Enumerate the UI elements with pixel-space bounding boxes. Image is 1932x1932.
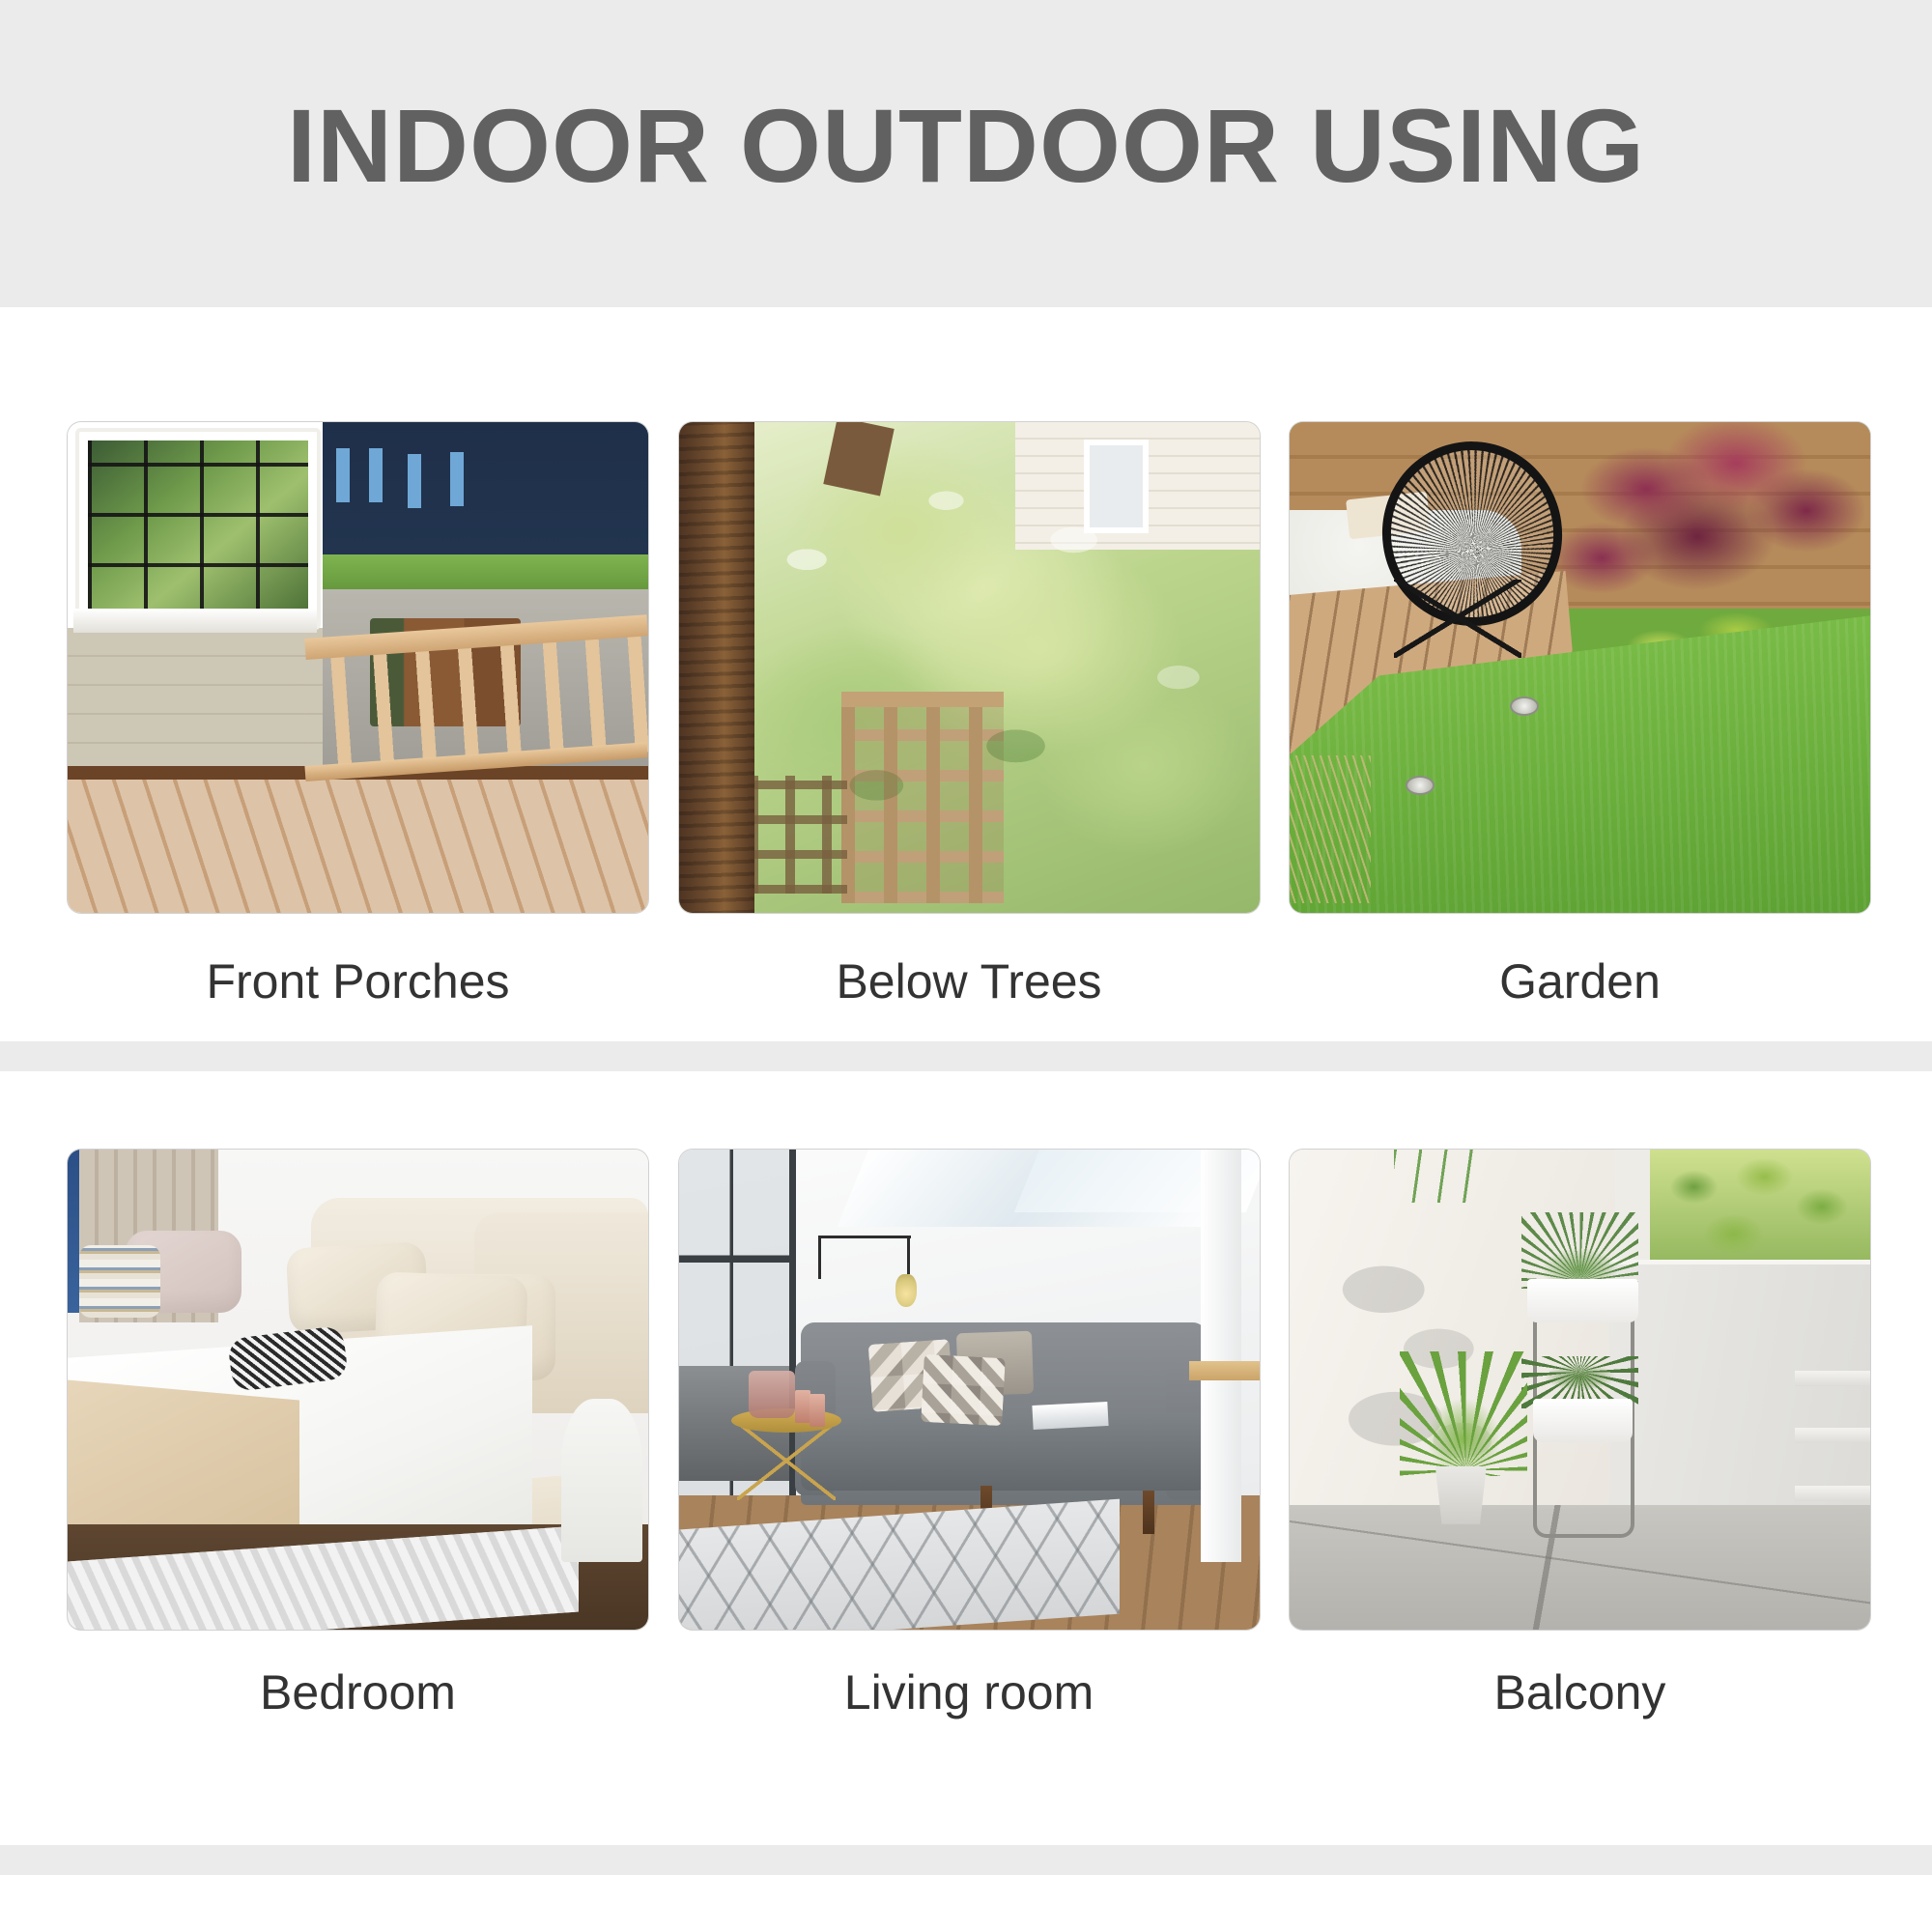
divider-band-middle [0, 1041, 1932, 1071]
caption-front-porches: Front Porches [206, 957, 509, 1006]
deck-light-lower [1406, 776, 1435, 795]
hanging-vine [1394, 1150, 1487, 1203]
wall-step-upper [1795, 1371, 1870, 1386]
porch-deck-floor [68, 766, 648, 913]
magazine-on-sofa [1033, 1402, 1109, 1430]
caption-living-room: Living room [844, 1668, 1094, 1717]
wooden-shelf [1189, 1361, 1259, 1380]
gallery-row-indoor: Bedroom [68, 1150, 1870, 1717]
gallery-cell-below-trees[interactable]: Below Trees [679, 422, 1260, 1006]
planter-pot-upper [1527, 1279, 1637, 1322]
photo-garden[interactable] [1290, 422, 1870, 913]
nightstand-table [561, 1399, 642, 1562]
caption-balcony: Balcony [1494, 1668, 1666, 1717]
photo-bedroom[interactable] [68, 1150, 648, 1630]
neighbour-blue-house [323, 422, 648, 569]
floor-plant [1400, 1351, 1527, 1476]
drinking-glass-b [810, 1394, 825, 1427]
gallery-cell-bedroom[interactable]: Bedroom [68, 1150, 648, 1717]
caption-garden: Garden [1499, 957, 1661, 1006]
drinking-glass-a [795, 1390, 810, 1423]
cushion-geometric-b [921, 1354, 1006, 1426]
gallery-row-outdoor: Front Porches Below Trees Garden [68, 422, 1870, 1006]
edison-bulb [895, 1274, 917, 1307]
window-sill [73, 609, 317, 633]
gallery-cell-balcony[interactable]: Balcony [1290, 1150, 1870, 1717]
chair-legs [1394, 580, 1521, 658]
glass-pitcher [749, 1371, 795, 1419]
caption-bedroom: Bedroom [260, 1668, 456, 1717]
ornamental-grass [1290, 755, 1371, 902]
sofa-leg-right [1143, 1491, 1154, 1534]
house-siding [68, 628, 323, 785]
tree-trunk [679, 422, 754, 913]
photo-below-trees[interactable] [679, 422, 1260, 913]
side-table-legs [737, 1423, 836, 1500]
photo-balcony[interactable] [1290, 1150, 1870, 1630]
wall-lamp-bracket [818, 1236, 821, 1279]
header-band: INDOOR OUTDOOR USING [0, 0, 1932, 307]
plant-upper [1521, 1212, 1637, 1290]
page-title: INDOOR OUTDOOR USING [287, 94, 1645, 198]
white-column [1201, 1150, 1241, 1562]
divider-band-bottom [0, 1845, 1932, 1875]
pillow-patterned [79, 1245, 160, 1318]
photo-living-room[interactable] [679, 1150, 1260, 1630]
planter-pot-lower [1533, 1399, 1632, 1442]
wall-lamp-drop [907, 1236, 910, 1274]
foliage-overlay [679, 422, 1260, 913]
sofa-seat-cushion [801, 1413, 1207, 1491]
gallery-cell-living-room[interactable]: Living room [679, 1150, 1260, 1717]
caption-below-trees: Below Trees [836, 957, 1101, 1006]
porch-window [79, 432, 317, 626]
gallery-cell-front-porches[interactable]: Front Porches [68, 422, 648, 1006]
gallery-cell-garden[interactable]: Garden [1290, 422, 1870, 1006]
wall-step-lower [1795, 1486, 1870, 1501]
wall-step-middle [1795, 1428, 1870, 1443]
wall-lamp-arm [818, 1236, 911, 1238]
foliage-over-wall [1650, 1150, 1870, 1274]
photo-front-porches[interactable] [68, 422, 648, 913]
